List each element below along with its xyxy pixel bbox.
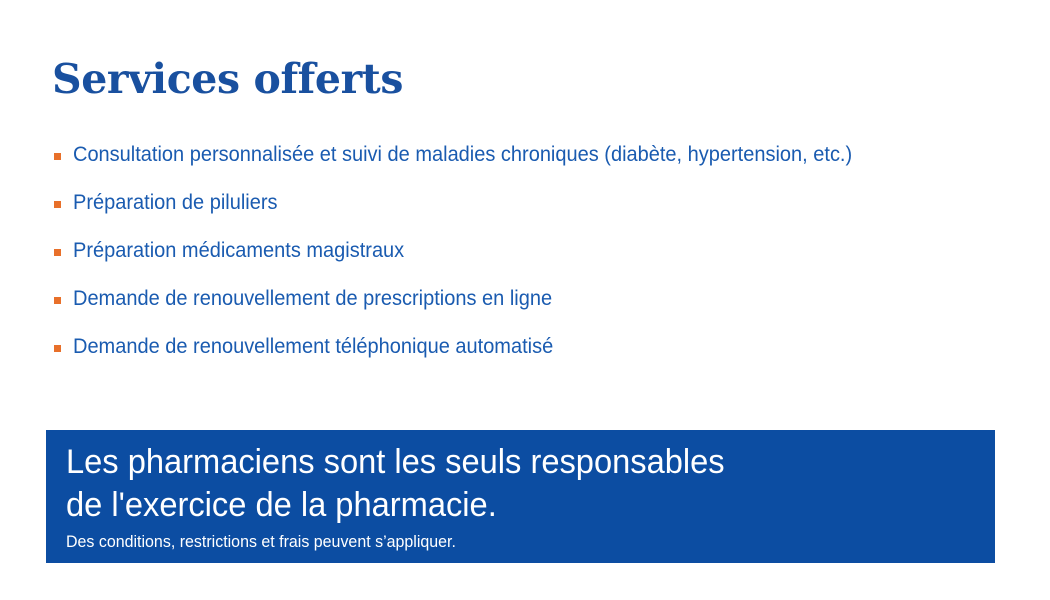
slide-canvas: Services offerts Consultation personnali…: [0, 0, 1050, 600]
disclaimer-callout-box: Les pharmaciens sont les seuls responsab…: [46, 430, 995, 563]
list-item-label: Demande de renouvellement téléphonique a…: [73, 333, 553, 360]
square-bullet-icon: [54, 201, 61, 208]
list-item: Préparation de piluliers: [54, 189, 1014, 237]
list-item-label: Préparation médicaments magistraux: [73, 237, 404, 264]
list-item-label: Consultation personnalisée et suivi de m…: [73, 141, 852, 168]
list-item: Demande de renouvellement téléphonique a…: [54, 333, 1014, 381]
square-bullet-icon: [54, 249, 61, 256]
callout-fineprint: Des conditions, restrictions et frais pe…: [66, 530, 939, 554]
square-bullet-icon: [54, 345, 61, 352]
callout-heading-line-2: de l'exercice de la pharmacie.: [66, 484, 958, 527]
callout-heading-line-1: Les pharmaciens sont les seuls responsab…: [66, 441, 958, 484]
list-item-label: Préparation de piluliers: [73, 189, 278, 216]
list-item: Préparation médicaments magistraux: [54, 237, 1014, 285]
list-item: Demande de renouvellement de prescriptio…: [54, 285, 1014, 333]
list-item-label: Demande de renouvellement de prescriptio…: [73, 285, 552, 312]
services-bullet-list: Consultation personnalisée et suivi de m…: [54, 141, 1014, 381]
square-bullet-icon: [54, 297, 61, 304]
square-bullet-icon: [54, 153, 61, 160]
list-item: Consultation personnalisée et suivi de m…: [54, 141, 1014, 189]
page-title: Services offerts: [52, 58, 403, 101]
